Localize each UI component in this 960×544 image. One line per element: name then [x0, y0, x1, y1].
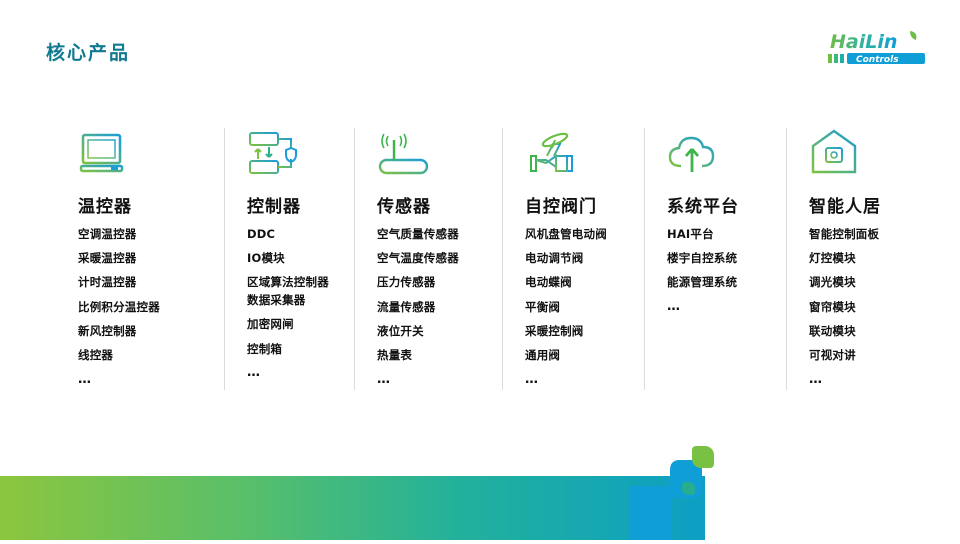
list-item[interactable]: 能源管理系统	[667, 274, 772, 292]
product-column-controllers: 控制器 DDC IO模块 区域算法控制器数据采集器 加密网闸 控制箱 …	[224, 128, 354, 390]
list-item[interactable]: 电动蝶阀	[525, 274, 630, 292]
controller-rack-icon	[247, 128, 340, 176]
list-item[interactable]: 压力传感器	[377, 274, 488, 292]
list-item[interactable]: DDC	[247, 226, 340, 244]
list-item[interactable]: 流量传感器	[377, 299, 488, 317]
list-item[interactable]: 智能控制面板	[809, 226, 912, 244]
cloud-upload-icon	[667, 128, 772, 176]
decorative-step-shape	[630, 456, 710, 540]
list-item[interactable]: 联动模块	[809, 323, 912, 341]
list-item[interactable]: 比例积分温控器	[78, 299, 210, 317]
list-item[interactable]: 电动调节阀	[525, 250, 630, 268]
more-indicator: …	[247, 365, 340, 380]
product-columns: 温控器 空调温控器 采暖温控器 计时温控器 比例积分温控器 新风控制器 线控器 …	[78, 128, 908, 390]
list-item[interactable]: 控制箱	[247, 341, 340, 359]
column-title: 系统平台	[667, 198, 772, 217]
list-item[interactable]: IO模块	[247, 250, 340, 268]
valve-icon	[525, 128, 630, 176]
list-item[interactable]: 空气温度传感器	[377, 250, 488, 268]
product-item-list: 智能控制面板 灯控模块 调光模块 窗帘模块 联动模块 可视对讲	[809, 226, 912, 365]
decorative-square-teal	[682, 482, 695, 495]
column-title: 自控阀门	[525, 198, 630, 217]
product-column-control-valves: 自控阀门 风机盘管电动阀 电动调节阀 电动蝶阀 平衡阀 采暖控制阀 通用阀 …	[502, 128, 644, 390]
more-indicator: …	[525, 372, 630, 387]
list-item[interactable]: 风机盘管电动阀	[525, 226, 630, 244]
more-indicator: …	[667, 299, 772, 314]
list-item[interactable]: 调光模块	[809, 274, 912, 292]
product-item-list: 空气质量传感器 空气温度传感器 压力传感器 流量传感器 液位开关 热量表	[377, 226, 488, 365]
column-title: 智能人居	[809, 198, 912, 217]
list-item[interactable]: HAI平台	[667, 226, 772, 244]
product-column-sensors: 传感器 空气质量传感器 空气温度传感器 压力传感器 流量传感器 液位开关 热量表…	[354, 128, 502, 390]
product-column-smart-home: 智能人居 智能控制面板 灯控模块 调光模块 窗帘模块 联动模块 可视对讲 …	[786, 128, 926, 390]
list-item[interactable]: 采暖温控器	[78, 250, 210, 268]
more-indicator: …	[377, 372, 488, 387]
list-item[interactable]: 加密网闸	[247, 316, 340, 334]
smart-home-chip-icon	[809, 128, 912, 176]
more-indicator: …	[78, 372, 210, 387]
list-item[interactable]: 计时温控器	[78, 274, 210, 292]
decorative-square-green	[692, 446, 714, 468]
page-title: 核心产品	[46, 38, 130, 65]
product-item-list: 风机盘管电动阀 电动调节阀 电动蝶阀 平衡阀 采暖控制阀 通用阀	[525, 226, 630, 365]
hailin-controls-logo: HaiLin Controls	[822, 28, 932, 68]
list-item[interactable]: 热量表	[377, 347, 488, 365]
list-item[interactable]: 新风控制器	[78, 323, 210, 341]
product-item-list: HAI平台 楼宇自控系统 能源管理系统	[667, 226, 772, 292]
list-item[interactable]: 空调温控器	[78, 226, 210, 244]
product-item-list: DDC IO模块 区域算法控制器数据采集器 加密网闸 控制箱	[247, 226, 340, 359]
list-item[interactable]: 楼宇自控系统	[667, 250, 772, 268]
list-item[interactable]: 窗帘模块	[809, 299, 912, 317]
list-item[interactable]: 区域算法控制器数据采集器	[247, 274, 340, 310]
column-title: 控制器	[247, 198, 340, 217]
footer-gradient-bar	[0, 476, 705, 540]
list-item[interactable]: 采暖控制阀	[525, 323, 630, 341]
list-item[interactable]: 线控器	[78, 347, 210, 365]
list-item[interactable]: 灯控模块	[809, 250, 912, 268]
product-column-system-platform: 系统平台 HAI平台 楼宇自控系统 能源管理系统 …	[644, 128, 786, 390]
list-item[interactable]: 液位开关	[377, 323, 488, 341]
list-item[interactable]: 平衡阀	[525, 299, 630, 317]
list-item[interactable]: 空气质量传感器	[377, 226, 488, 244]
monitor-icon	[78, 128, 210, 176]
wireless-sensor-icon	[377, 128, 488, 176]
list-item[interactable]: 通用阀	[525, 347, 630, 365]
product-item-list: 空调温控器 采暖温控器 计时温控器 比例积分温控器 新风控制器 线控器	[78, 226, 210, 365]
column-title: 温控器	[78, 198, 210, 217]
svg-text:Controls: Controls	[856, 55, 899, 65]
product-column-thermostats: 温控器 空调温控器 采暖温控器 计时温控器 比例积分温控器 新风控制器 线控器 …	[78, 128, 224, 390]
svg-text:HaiLin: HaiLin	[830, 31, 897, 53]
column-title: 传感器	[377, 198, 488, 217]
more-indicator: …	[809, 372, 912, 387]
list-item[interactable]: 可视对讲	[809, 347, 912, 365]
